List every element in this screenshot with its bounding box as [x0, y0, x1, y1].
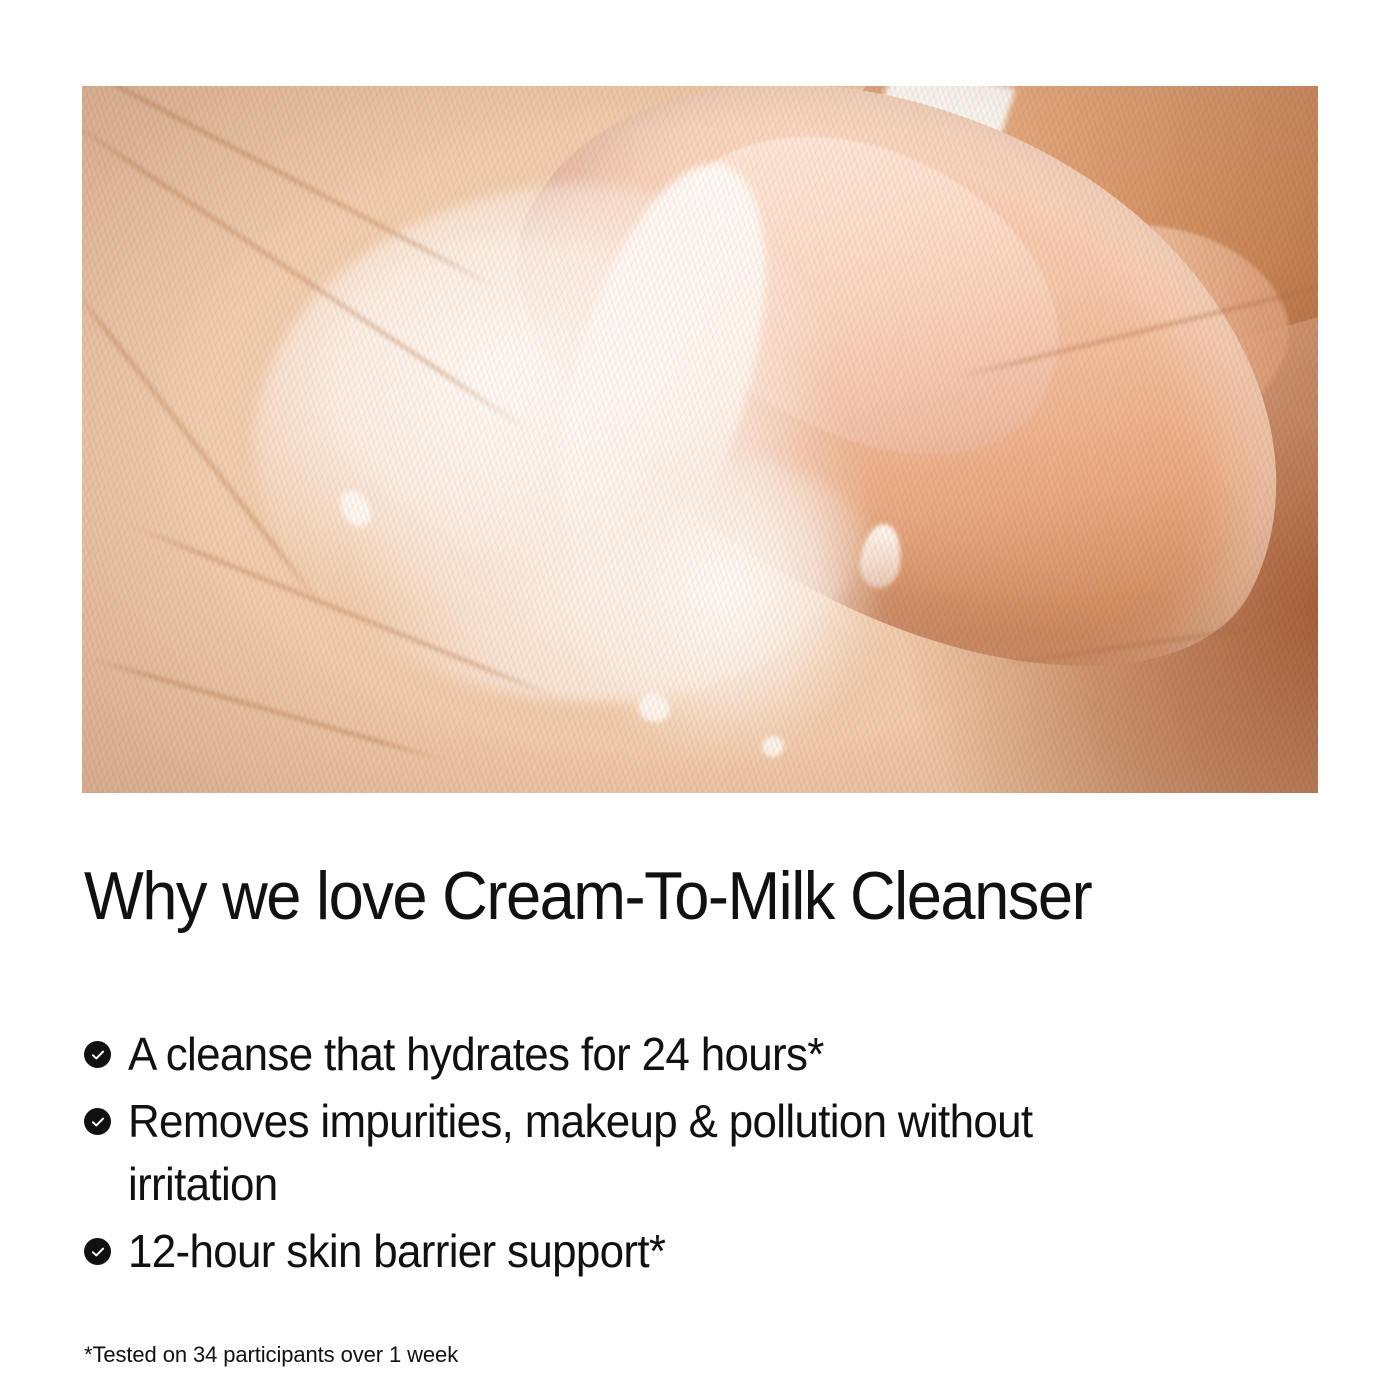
- photo-skin-texture-cross: [82, 86, 1318, 793]
- cleanser-on-hands-photo: [82, 86, 1318, 793]
- list-item: 12-hour skin barrier support*: [84, 1220, 1324, 1283]
- benefits-list: A cleanse that hydrates for 24 hours* Re…: [84, 1023, 1324, 1283]
- content-block: Why we love Cream-To-Milk Cleanser A cle…: [84, 855, 1324, 1287]
- check-circle-icon: [84, 1238, 111, 1265]
- list-item: A cleanse that hydrates for 24 hours*: [84, 1023, 1324, 1086]
- product-benefits-card: Why we love Cream-To-Milk Cleanser A cle…: [0, 0, 1400, 1400]
- list-item: Removes impurities, makeup & pollution w…: [84, 1090, 1324, 1216]
- benefit-label: A cleanse that hydrates for 24 hours*: [128, 1023, 824, 1086]
- benefit-label: Removes impurities, makeup & pollution w…: [128, 1090, 1064, 1216]
- check-circle-icon: [84, 1108, 111, 1135]
- page-title: Why we love Cream-To-Milk Cleanser: [84, 855, 1237, 937]
- footnote-disclaimer: *Tested on 34 participants over 1 week: [84, 1340, 458, 1370]
- benefit-label: 12-hour skin barrier support*: [128, 1220, 665, 1283]
- hero-image: [82, 86, 1318, 793]
- check-circle-icon: [84, 1041, 111, 1068]
